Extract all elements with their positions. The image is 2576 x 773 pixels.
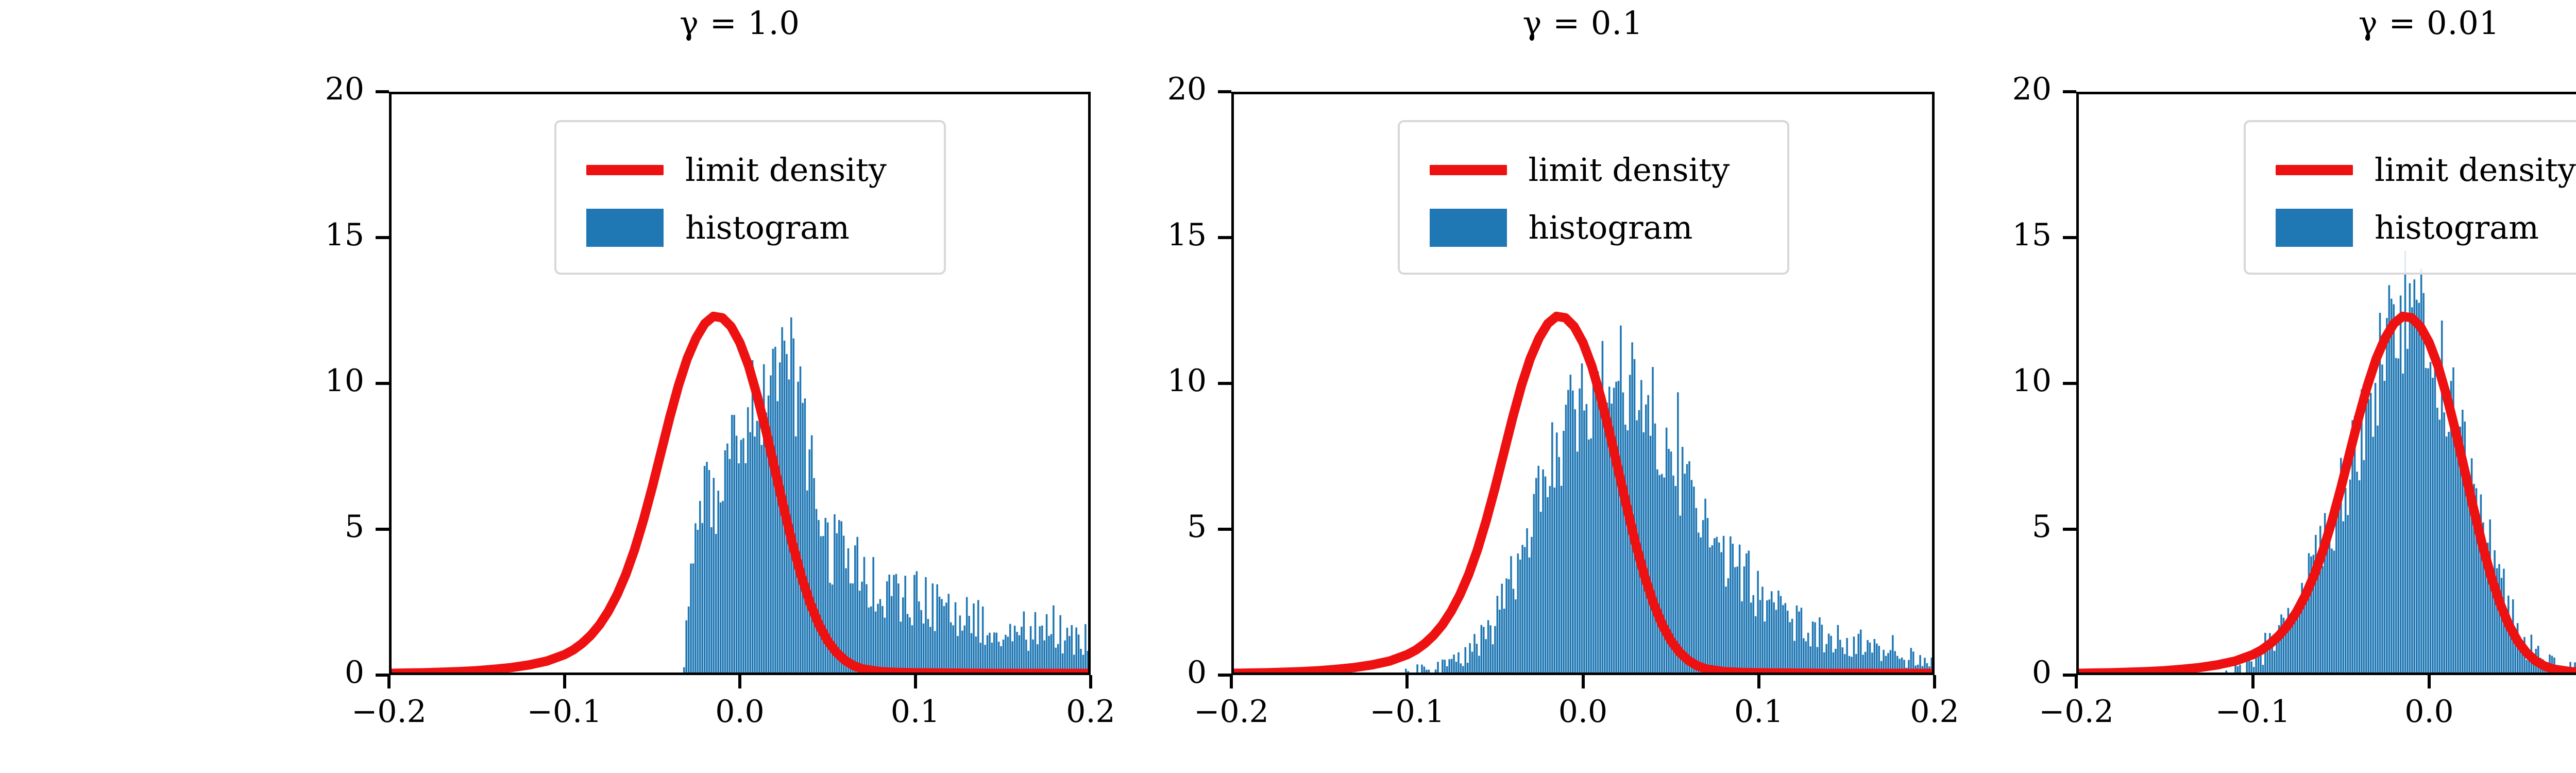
- y-tickmark: [2063, 528, 2076, 531]
- legend-line-swatch-icon: [2276, 165, 2353, 175]
- chart-panel-2: γ = 0.01limit densityhistogram05101520−0…: [0, 0, 2576, 773]
- y-tickmark: [2063, 90, 2076, 93]
- x-tickmark: [2251, 675, 2255, 688]
- x-tickmark: [2428, 675, 2431, 688]
- x-tickmark: [2075, 675, 2078, 688]
- panel-title: γ = 0.01: [2076, 4, 2576, 42]
- legend-item-histogram[interactable]: histogram: [2276, 205, 2539, 251]
- y-tick-label: 5: [1953, 509, 2052, 545]
- x-tick-label: −0.2: [1999, 694, 2154, 730]
- legend-label: histogram: [2375, 212, 2539, 244]
- x-tick-label: 0.1: [2529, 694, 2576, 730]
- y-tick-label: 15: [1953, 217, 2052, 253]
- y-tick-label: 10: [1953, 363, 2052, 399]
- legend: limit densityhistogram: [2244, 120, 2576, 275]
- legend-item-limit-density[interactable]: limit density: [2276, 147, 2576, 193]
- y-tick-label: 20: [1953, 71, 2052, 107]
- figure-canvas: γ = 1.0limit densityhistogram05101520−0.…: [0, 0, 2576, 773]
- legend-patch-swatch-icon: [2276, 209, 2353, 247]
- legend-label: limit density: [2375, 154, 2576, 186]
- y-tickmark: [2063, 382, 2076, 385]
- x-tick-label: 0.0: [2352, 694, 2506, 730]
- y-tickmark: [2063, 236, 2076, 239]
- y-tick-label: 0: [1953, 654, 2052, 691]
- x-tick-label: −0.1: [2176, 694, 2330, 730]
- plot-area: limit densityhistogram: [2076, 92, 2576, 675]
